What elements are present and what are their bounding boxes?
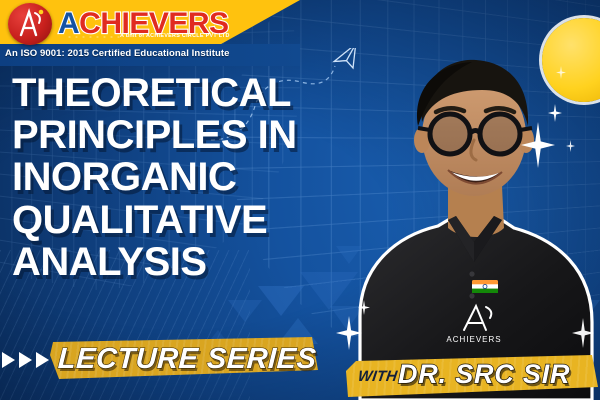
triangle-decor xyxy=(228,300,262,322)
triangle-right-icon xyxy=(2,352,15,368)
triangle-decor xyxy=(258,286,304,316)
shirt-brand-text: ACHIEVERS xyxy=(446,335,501,344)
course-promo-poster: A CHIEVERS A unit of ACHIEVERS CIRCLE PV… xyxy=(0,0,600,400)
presenter-with-label: WITH xyxy=(357,368,399,385)
triangle-right-icon xyxy=(19,352,32,368)
arrow-marker-group xyxy=(2,352,49,368)
presenter-photo: ACHIEVERS xyxy=(352,30,600,400)
brand-iso-line: An ISO 9001: 2015 Certified Educational … xyxy=(5,48,230,59)
presenter-name: DR. SRC SIR xyxy=(398,359,570,390)
triangle-right-icon xyxy=(36,352,49,368)
logo-dot-pattern xyxy=(66,34,124,40)
achievers-monogram-icon xyxy=(8,3,52,45)
brand-unit-line: A unit of ACHIEVERS CIRCLE PVT LTD xyxy=(120,33,230,39)
lecture-series-label: LECTURE SERIES xyxy=(57,343,315,376)
